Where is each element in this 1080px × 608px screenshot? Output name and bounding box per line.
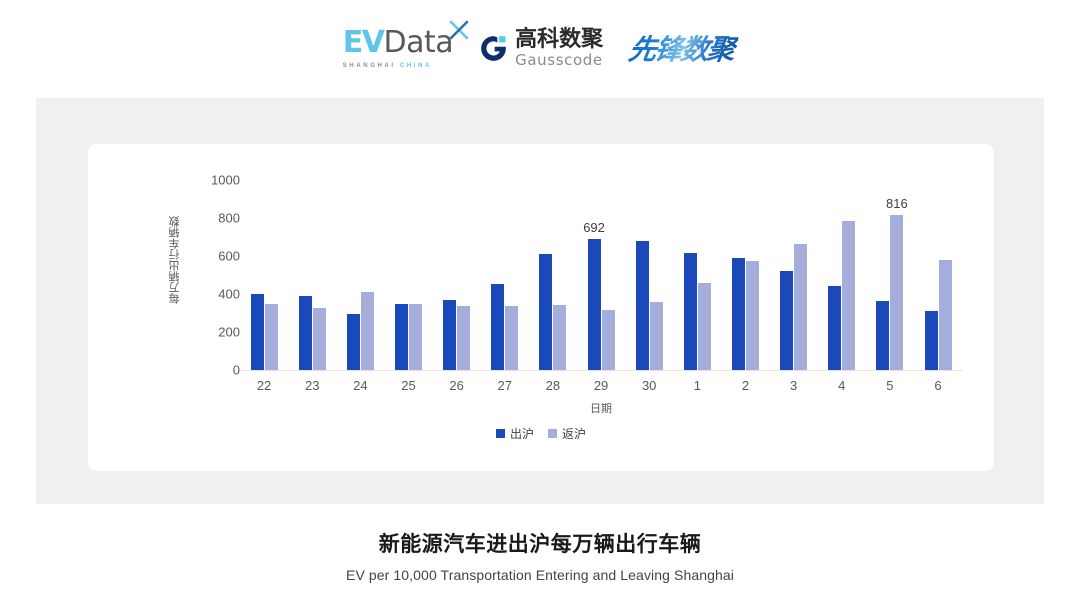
bar-group bbox=[625, 180, 673, 370]
x-axis-tick: 30 bbox=[625, 378, 673, 393]
x-axis-tick: 2 bbox=[721, 378, 769, 393]
page-title: 新能源汽车进出沪每万辆出行车辆 bbox=[0, 528, 1080, 558]
evdata-data-text: Data bbox=[384, 28, 454, 58]
x-axis-tick: 26 bbox=[433, 378, 481, 393]
y-axis-tick: 200 bbox=[194, 325, 240, 340]
bar-group bbox=[288, 180, 336, 370]
y-axis-tick: 600 bbox=[194, 249, 240, 264]
bar-group bbox=[481, 180, 529, 370]
y-axis-ticks: 10008006004002000 bbox=[184, 144, 240, 471]
bar-group bbox=[721, 180, 769, 370]
x-axis-line bbox=[240, 370, 962, 371]
legend-swatch bbox=[496, 429, 505, 438]
bar bbox=[505, 306, 518, 370]
bar bbox=[732, 258, 745, 370]
bar-group bbox=[384, 180, 432, 370]
g-circle-icon bbox=[479, 34, 508, 63]
legend-item[interactable]: 出沪 bbox=[496, 425, 534, 442]
y-axis-tick: 1000 bbox=[194, 173, 240, 188]
bar-group: 692 bbox=[577, 180, 625, 370]
xianfeng-logo: 先锋数聚 bbox=[629, 28, 737, 68]
evdata-tagline: SHANGHAI CHINA bbox=[343, 63, 432, 69]
bar bbox=[457, 306, 470, 370]
bar bbox=[636, 241, 649, 370]
legend-swatch bbox=[548, 429, 557, 438]
bar bbox=[698, 283, 711, 370]
bar-chart: 每万辆出行车辆数 10008006004002000 692816 222324… bbox=[88, 144, 994, 471]
evdata-wordmark: EV Data bbox=[343, 28, 453, 58]
bar-groups: 692816 bbox=[240, 180, 962, 370]
bar: 816 bbox=[890, 215, 903, 370]
bar bbox=[443, 300, 456, 370]
gausscode-wordmark: 高科数聚 Gausscode bbox=[515, 29, 603, 68]
legend-item[interactable]: 返沪 bbox=[548, 425, 586, 442]
bar bbox=[794, 244, 807, 370]
gausscode-cn-text: 高科数聚 bbox=[515, 29, 603, 51]
bar-group bbox=[770, 180, 818, 370]
x-axis-tick: 5 bbox=[866, 378, 914, 393]
y-axis-tick: 0 bbox=[194, 363, 240, 378]
y-axis-tick: 800 bbox=[194, 211, 240, 226]
bar bbox=[684, 253, 697, 370]
bar bbox=[842, 221, 855, 370]
bar bbox=[828, 286, 841, 370]
bar-group bbox=[818, 180, 866, 370]
x-axis-tick: 27 bbox=[481, 378, 529, 393]
bar bbox=[409, 304, 422, 370]
evdata-ev-text: EV bbox=[343, 28, 384, 58]
bar bbox=[299, 296, 312, 370]
bar bbox=[491, 284, 504, 370]
chart-legend: 出沪返沪 bbox=[88, 425, 994, 442]
x-axis-tick: 1 bbox=[673, 378, 721, 393]
bar bbox=[925, 311, 938, 370]
bar bbox=[395, 304, 408, 370]
x-axis-tick: 3 bbox=[770, 378, 818, 393]
bar bbox=[602, 310, 615, 370]
bar-group bbox=[240, 180, 288, 370]
bar-value-label: 816 bbox=[886, 196, 908, 211]
x-axis-tick: 29 bbox=[577, 378, 625, 393]
bar-group bbox=[433, 180, 481, 370]
x-axis-tick: 22 bbox=[240, 378, 288, 393]
evdata-tagline-shanghai: SHANGHAI bbox=[343, 63, 396, 69]
footer: 新能源汽车进出沪每万辆出行车辆 EV per 10,000 Transporta… bbox=[0, 528, 1080, 583]
bar-group bbox=[336, 180, 384, 370]
bar-group bbox=[673, 180, 721, 370]
x-axis-tick: 23 bbox=[288, 378, 336, 393]
plot-area: 692816 bbox=[240, 144, 962, 471]
bar bbox=[746, 261, 759, 370]
evdata-logo: EV Data SHANGHAI CHINA bbox=[343, 28, 453, 69]
bar-value-label: 692 bbox=[583, 220, 605, 235]
x-axis-tick: 24 bbox=[336, 378, 384, 393]
logo-bar: EV Data SHANGHAI CHINA 高科数聚 Gausscode 先锋… bbox=[0, 0, 1080, 92]
bar-group bbox=[529, 180, 577, 370]
bar bbox=[650, 302, 663, 370]
bar-group: 816 bbox=[866, 180, 914, 370]
x-axis-tick: 28 bbox=[529, 378, 577, 393]
bar: 692 bbox=[588, 239, 601, 370]
page-subtitle: EV per 10,000 Transportation Entering an… bbox=[0, 567, 1080, 583]
bar bbox=[347, 314, 360, 370]
x-axis-ticks: 222324252627282930123456 bbox=[240, 378, 962, 393]
bar bbox=[361, 292, 374, 370]
evdata-tagline-china: CHINA bbox=[400, 63, 432, 69]
bar bbox=[265, 304, 278, 370]
bar bbox=[539, 254, 552, 370]
y-axis-title: 每万辆出行车辆数 bbox=[166, 190, 184, 330]
bar-group bbox=[914, 180, 962, 370]
x-mark-icon bbox=[449, 20, 469, 40]
xianfeng-cn-text: 先锋数聚 bbox=[626, 28, 740, 68]
x-axis-tick: 4 bbox=[818, 378, 866, 393]
bar bbox=[876, 301, 889, 370]
legend-label: 返沪 bbox=[562, 425, 586, 442]
bar bbox=[251, 294, 264, 370]
x-axis-tick: 6 bbox=[914, 378, 962, 393]
chart-card: 每万辆出行车辆数 10008006004002000 692816 222324… bbox=[88, 144, 994, 471]
bar bbox=[939, 260, 952, 370]
x-axis-tick: 25 bbox=[384, 378, 432, 393]
y-axis-tick: 400 bbox=[194, 287, 240, 302]
x-axis-title: 日期 bbox=[240, 400, 962, 416]
gausscode-en-text: Gausscode bbox=[515, 53, 603, 68]
gausscode-logo: 高科数聚 Gausscode bbox=[479, 29, 603, 68]
bar bbox=[780, 271, 793, 370]
bar bbox=[313, 308, 326, 370]
bar bbox=[553, 305, 566, 370]
legend-label: 出沪 bbox=[510, 425, 534, 442]
